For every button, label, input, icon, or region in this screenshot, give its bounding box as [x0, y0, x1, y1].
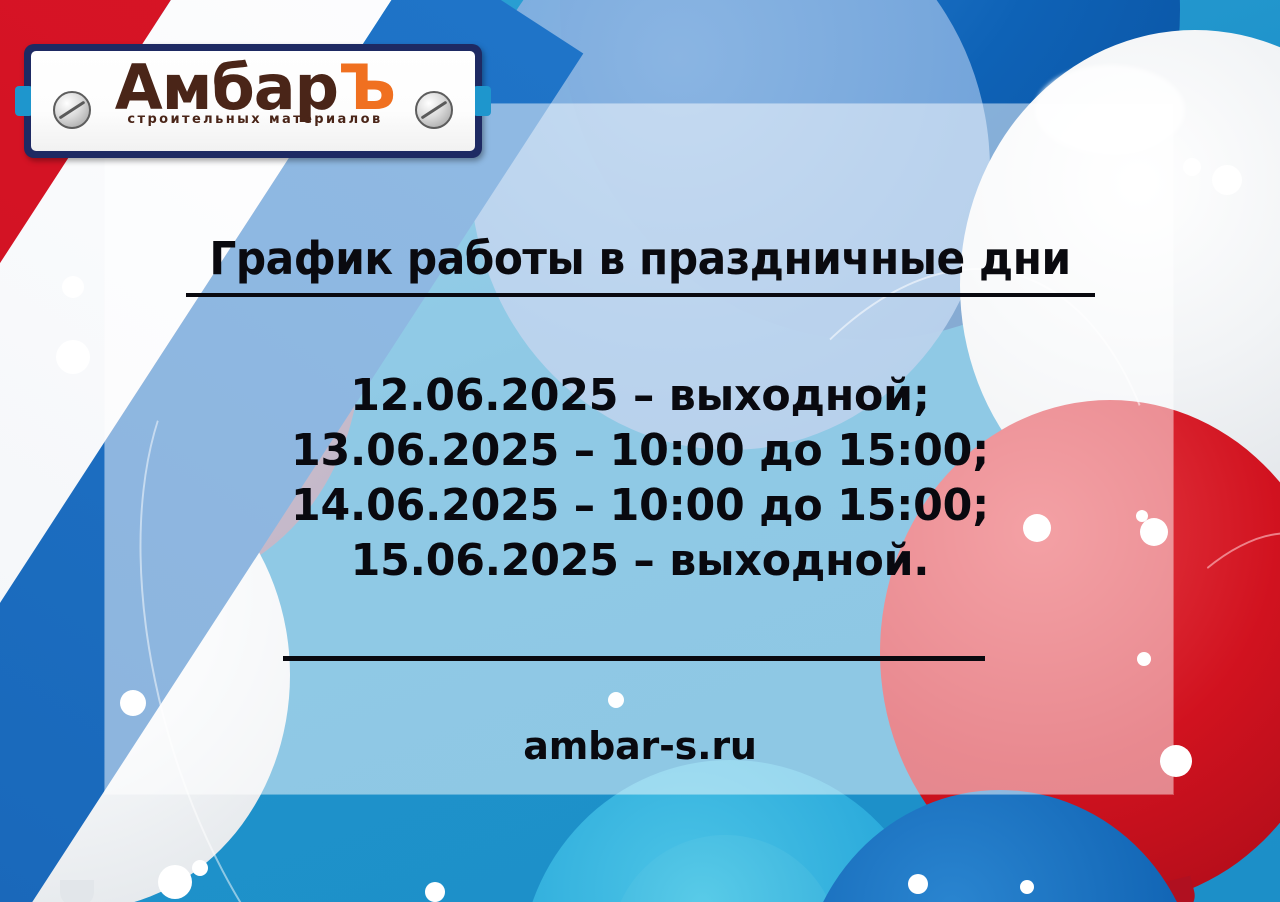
plaque-face: АмбарЪ строительных материалов [31, 51, 475, 151]
screw-icon [415, 91, 453, 129]
poster-canvas: График работы в праздничные дни 12.06.20… [0, 0, 1280, 902]
page-title: График работы в праздничные дни [38, 232, 1241, 285]
brand-tagline: строительных материалов [101, 113, 409, 126]
logo-plaque[interactable]: АмбарЪ строительных материалов [24, 44, 482, 158]
schedule-line: 15.06.2025 – выходной. [19, 533, 1261, 588]
screw-slot [421, 101, 448, 120]
screw-slot [59, 101, 86, 120]
footer-divider [283, 656, 985, 661]
schedule-list: 12.06.2025 – выходной; 13.06.2025 – 10:0… [0, 368, 1280, 588]
brand-name: АмбарЪ [101, 57, 409, 119]
schedule-line: 13.06.2025 – 10:00 до 15:00; [19, 423, 1261, 478]
title-divider [186, 293, 1095, 297]
website-url[interactable]: ambar-s.ru [0, 724, 1280, 768]
plaque-notch-right [473, 86, 491, 116]
brand-wordmark: АмбарЪ строительных материалов [101, 57, 409, 126]
schedule-line: 14.06.2025 – 10:00 до 15:00; [19, 478, 1261, 533]
screw-icon [53, 91, 91, 129]
schedule-line: 12.06.2025 – выходной; [19, 368, 1261, 423]
